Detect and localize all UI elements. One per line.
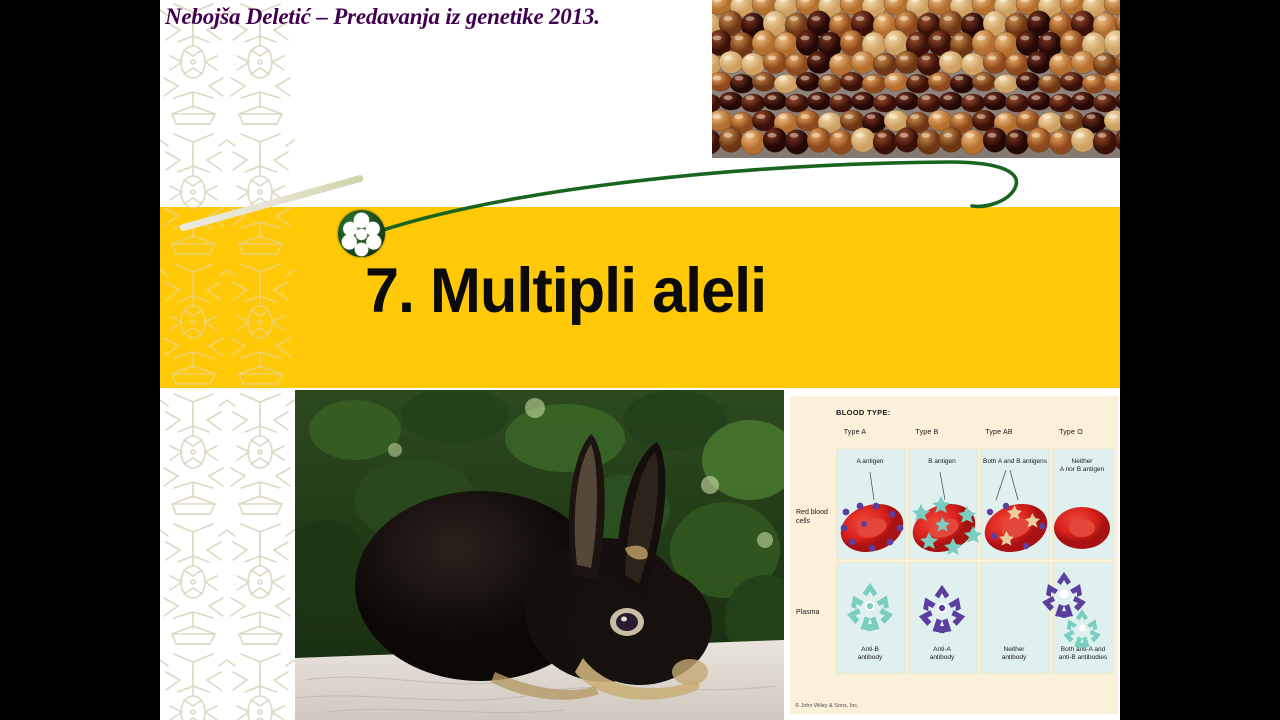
figure-credit: © John Wiley & Sons, Inc. (795, 703, 859, 709)
rabbit-image (295, 390, 784, 720)
blood-figure-graphics (790, 396, 1118, 714)
banner-lattice-overlay (160, 207, 295, 388)
slide-title: 7. Multipli aleli (365, 253, 766, 329)
page-title: Nebojša Deletić – Predavanja iz genetike… (165, 2, 685, 32)
slide-stage: Nebojša Deletić – Predavanja iz genetike… (160, 0, 1120, 720)
green-sphere-bullet-icon (338, 210, 385, 257)
letterbox-left (0, 0, 160, 720)
corn-cob-image (712, 0, 1120, 158)
blood-type-diagram: BLOOD TYPE: Type A Type B Type AB Type O… (790, 396, 1118, 714)
slide-canvas: Nebojša Deletić – Predavanja iz genetike… (0, 0, 1280, 720)
letterbox-right (1120, 0, 1280, 720)
